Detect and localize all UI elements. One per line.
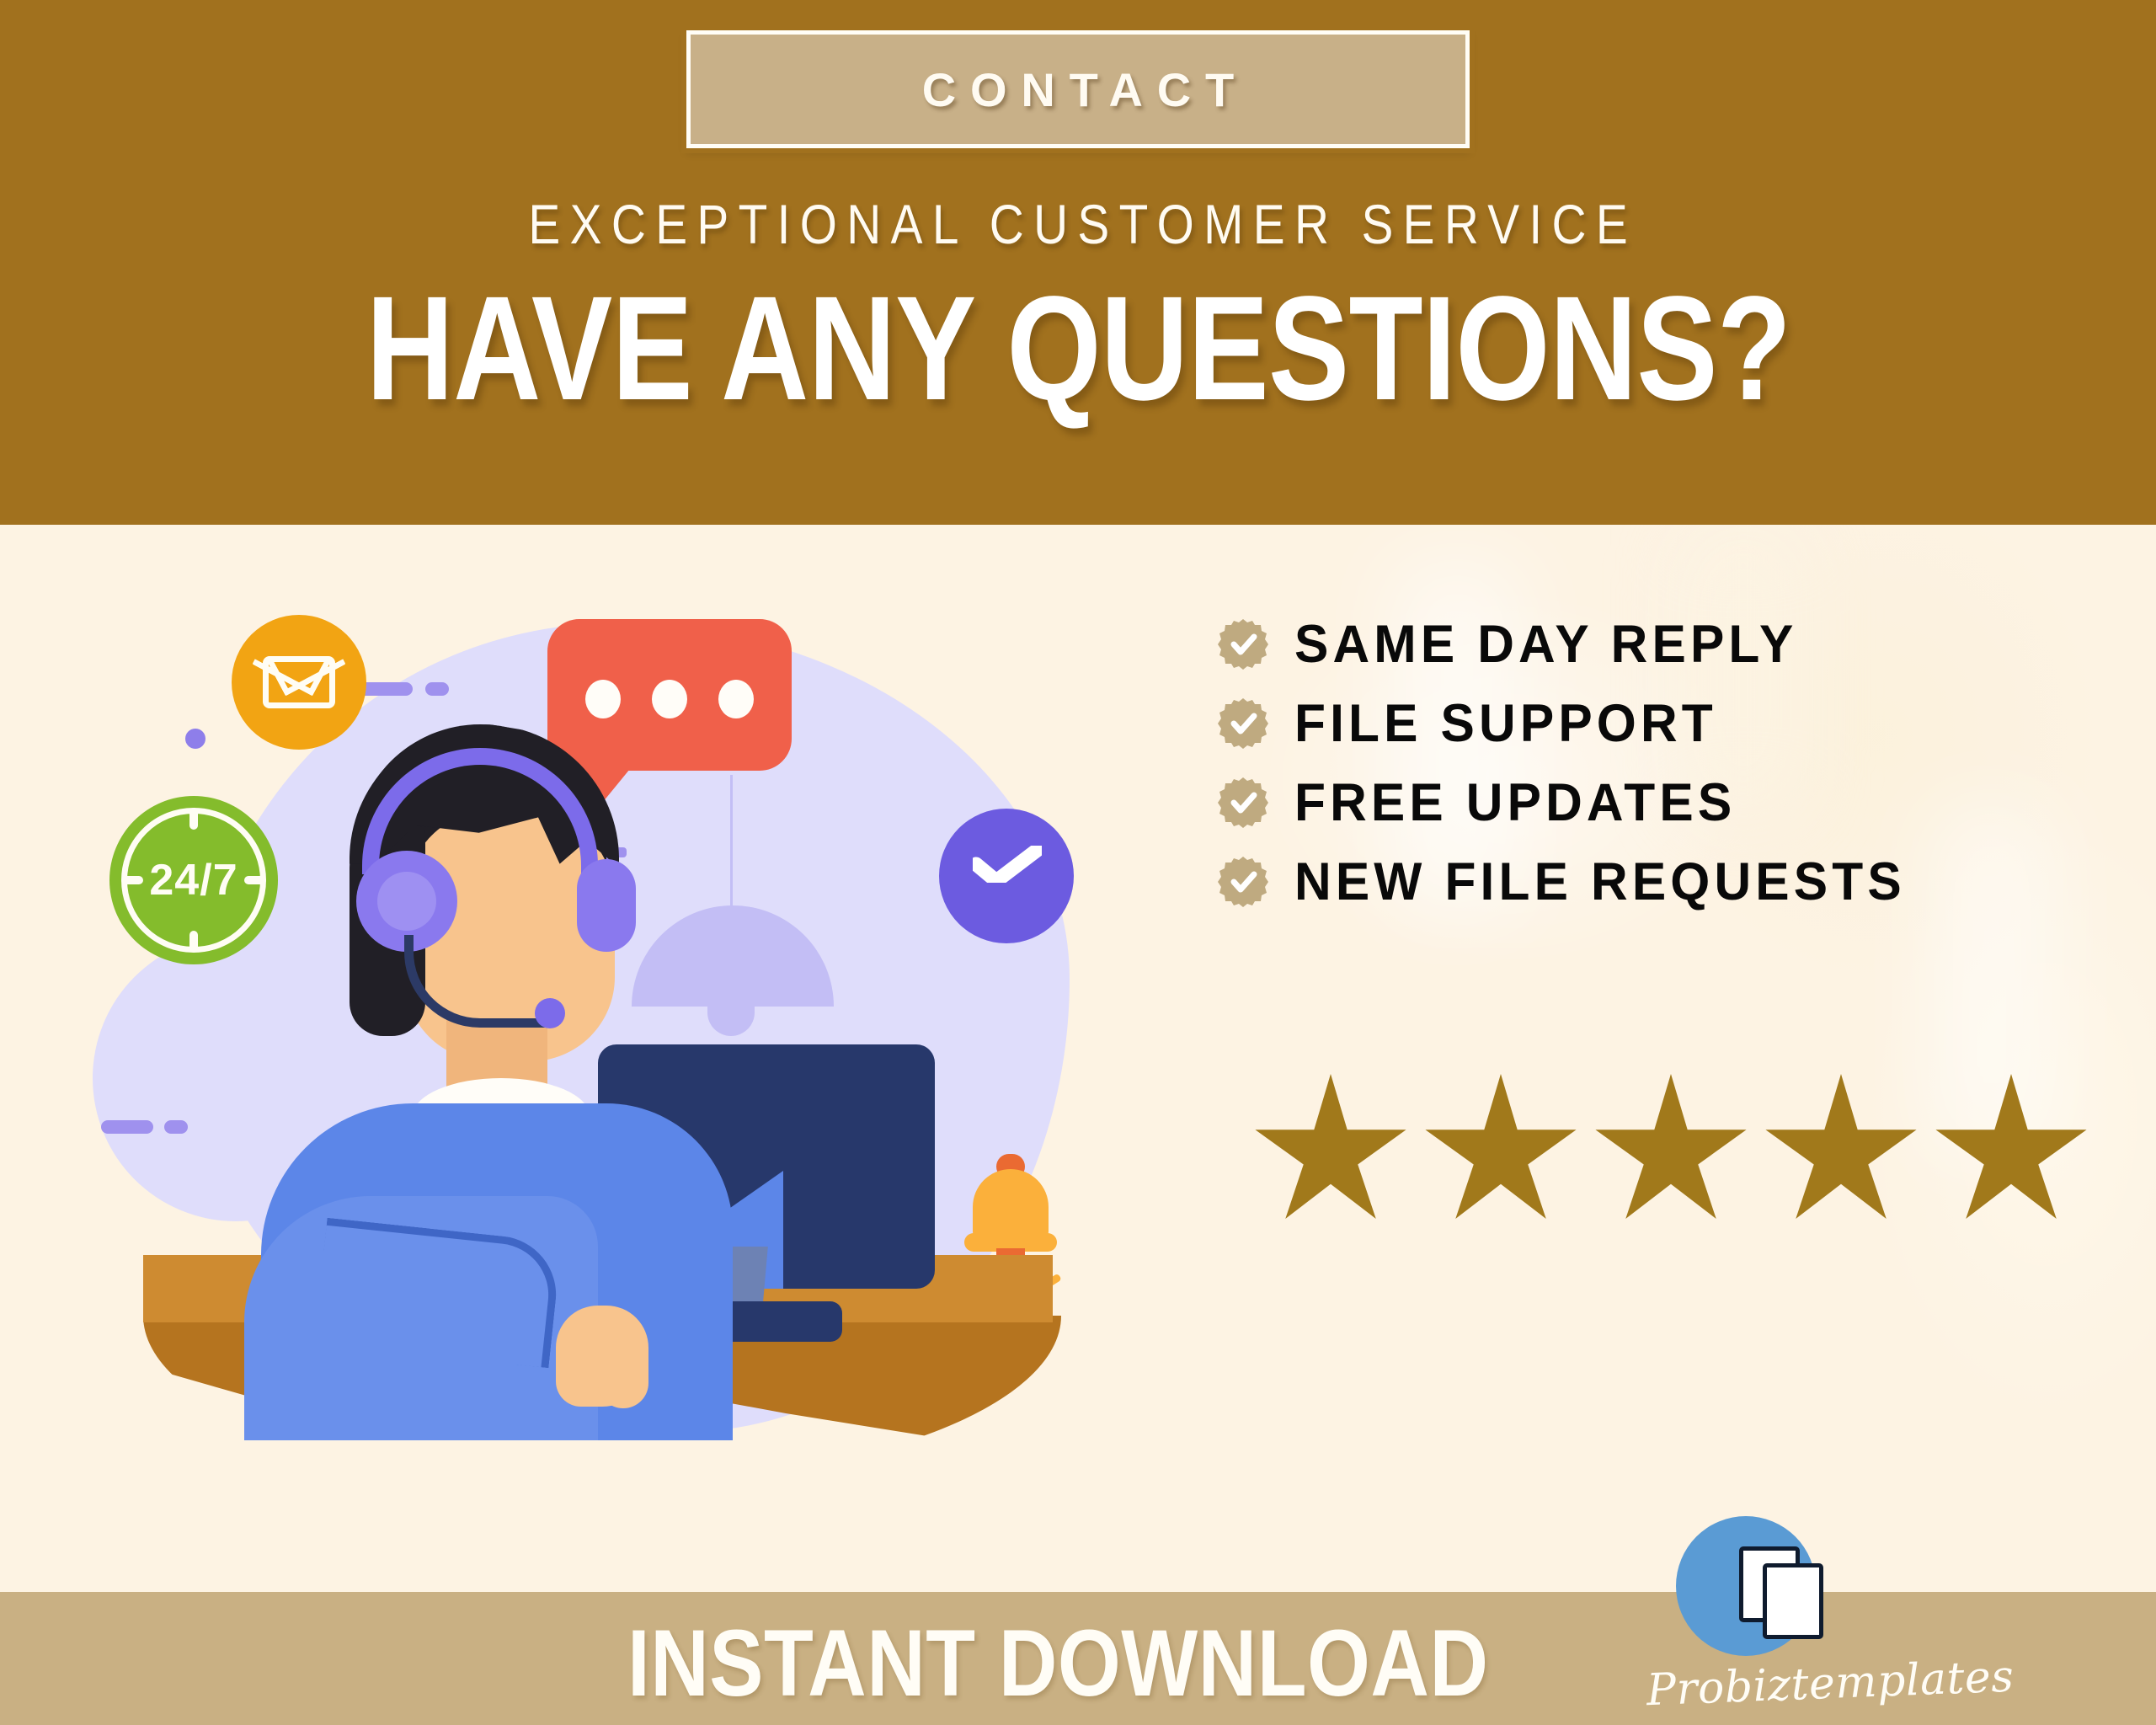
feature-label: FILE SUPPORT	[1294, 693, 1717, 754]
feature-list: SAME DAY REPLY FILE SUPPORT FREE UPDATES	[1217, 605, 2110, 921]
decorative-dash	[101, 1120, 153, 1134]
speech-dot	[652, 680, 687, 718]
check-seal-icon	[1217, 856, 1269, 908]
instant-download-label: INSTANT DOWNLOAD	[627, 1609, 1488, 1717]
headset-earcup-right	[577, 859, 636, 952]
speech-dot	[718, 680, 754, 718]
brand-name: Probiztemplates	[1646, 1653, 1967, 1717]
decorative-dash	[425, 682, 449, 696]
feature-item: NEW FILE REQUESTS	[1217, 842, 2110, 921]
checkmark-glyph	[973, 846, 1042, 883]
agent-finger	[598, 1348, 648, 1408]
envelope-glyph	[263, 656, 335, 708]
star-icon	[1765, 1074, 1917, 1219]
contact-badge: CONTACT	[686, 30, 1470, 148]
feature-label: FREE UPDATES	[1294, 772, 1736, 833]
headset-mic-tip	[535, 998, 565, 1028]
feature-item: FREE UPDATES	[1217, 763, 2110, 842]
support-illustration: 24/7	[93, 581, 1154, 1525]
star-rating	[1255, 1074, 2087, 1219]
bell-body	[973, 1169, 1049, 1240]
star-icon	[1255, 1074, 1406, 1219]
header-banner: CONTACT EXCEPTIONAL CUSTOMER SERVICE HAV…	[0, 0, 2156, 525]
check-seal-icon	[1217, 697, 1269, 750]
star-icon	[1935, 1074, 2087, 1219]
header-subtitle: EXCEPTIONAL CUSTOMER SERVICE	[519, 192, 1637, 256]
clock-tick	[121, 876, 143, 884]
feature-label: NEW FILE REQUESTS	[1294, 852, 1906, 912]
brand-logo: Probiztemplates	[1646, 1516, 1983, 1725]
check-seal-icon	[1217, 777, 1269, 829]
decorative-dash	[164, 1120, 188, 1134]
star-icon	[1425, 1074, 1577, 1219]
agent-figure	[194, 724, 834, 1331]
document-page-front	[1763, 1563, 1823, 1639]
check-circle-icon	[939, 809, 1074, 943]
clock-badge-label: 24/7	[149, 855, 237, 905]
check-seal-icon	[1217, 618, 1269, 670]
headset-earcup-inner	[377, 872, 436, 931]
star-icon	[1595, 1074, 1747, 1219]
header-headline: HAVE ANY QUESTIONS?	[366, 271, 1790, 427]
contact-badge-label: CONTACT	[908, 62, 1248, 117]
feature-item: FILE SUPPORT	[1217, 684, 2110, 763]
documents-logo-icon	[1676, 1516, 1816, 1656]
speech-dot	[585, 680, 621, 718]
feature-label: SAME DAY REPLY	[1294, 614, 1797, 675]
notification-bell-icon	[964, 1154, 1057, 1272]
feature-item: SAME DAY REPLY	[1217, 605, 2110, 684]
